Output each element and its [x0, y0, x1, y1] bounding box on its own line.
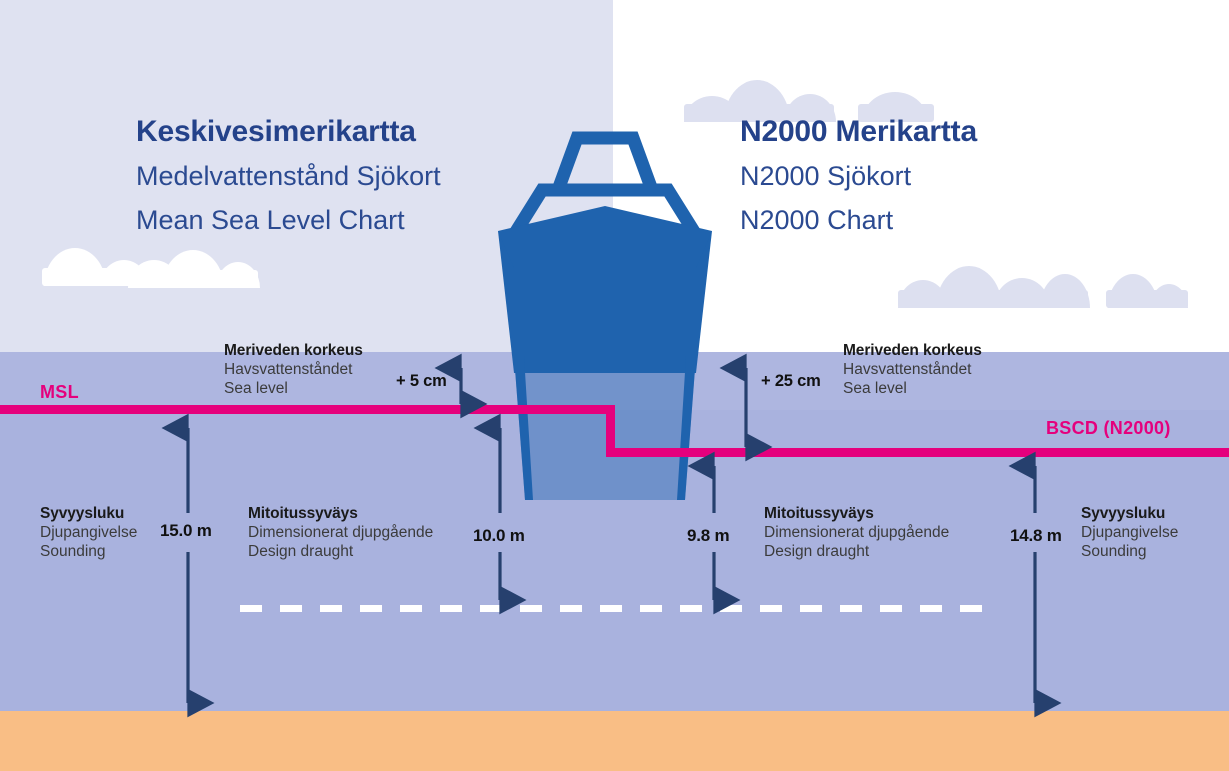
sea-level-right-value: + 25 cm [761, 372, 821, 391]
sounding-left-sv: Djupangivelse [40, 523, 137, 542]
sounding-left-fi: Syvyysluku [40, 504, 137, 523]
sea-level-right-fi: Meriveden korkeus [843, 341, 982, 360]
draught-right-en: Design draught [764, 542, 949, 561]
sea-level-right-sv: Havsvattenståndet [843, 360, 982, 379]
sounding-label-right: Syvyysluku Djupangivelse Sounding [1081, 504, 1178, 561]
sounding-right-value: 14.8 m [1010, 526, 1062, 546]
draught-left-fi: Mitoitussyväys [248, 504, 433, 523]
sea-level-left-en: Sea level [224, 379, 363, 398]
sea-level-left-fi: Meriveden korkeus [224, 341, 363, 360]
draught-label-right: Mitoitussyväys Dimensionerat djupgående … [764, 504, 949, 561]
sounding-label-left: Syvyysluku Djupangivelse Sounding [40, 504, 137, 561]
draught-left-value: 10.0 m [473, 526, 525, 546]
sounding-left-value: 15.0 m [160, 521, 212, 541]
draught-right-value: 9.8 m [687, 526, 729, 546]
draught-label-left: Mitoitussyväys Dimensionerat djupgående … [248, 504, 433, 561]
sea-level-left-value: + 5 cm [396, 372, 447, 391]
sounding-left-en: Sounding [40, 542, 137, 561]
draught-right-fi: Mitoitussyväys [764, 504, 949, 523]
draught-left-sv: Dimensionerat djupgående [248, 523, 433, 542]
infographic-canvas: Keskivesimerikartta Medelvattenstånd Sjö… [0, 0, 1229, 771]
sea-level-label-right: Meriveden korkeus Havsvattenståndet Sea … [843, 341, 982, 398]
draught-right-sv: Dimensionerat djupgående [764, 523, 949, 542]
sea-level-right-en: Sea level [843, 379, 982, 398]
sounding-right-fi: Syvyysluku [1081, 504, 1178, 523]
sea-level-left-sv: Havsvattenståndet [224, 360, 363, 379]
sounding-right-sv: Djupangivelse [1081, 523, 1178, 542]
arrow-layer [0, 0, 1229, 771]
sounding-right-en: Sounding [1081, 542, 1178, 561]
draught-left-en: Design draught [248, 542, 433, 561]
sea-level-label-left: Meriveden korkeus Havsvattenståndet Sea … [224, 341, 363, 398]
